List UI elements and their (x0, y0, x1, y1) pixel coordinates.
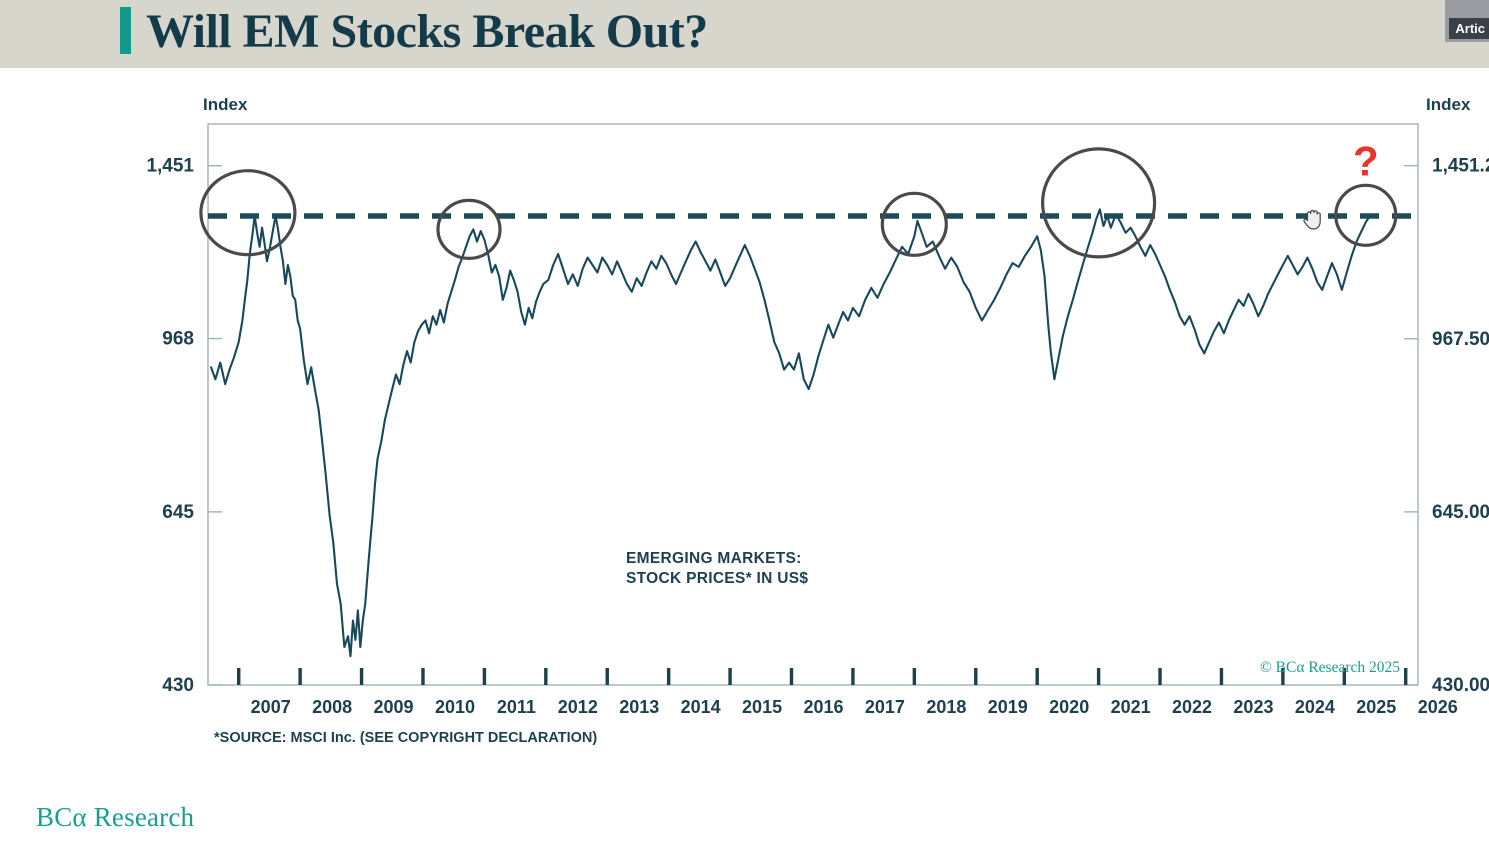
x-axis-tick-label: 2017 (865, 697, 905, 717)
right-axis-tick-label: 1,451.25 (1432, 156, 1489, 177)
left-axis-tick-label: 968 (162, 329, 194, 350)
x-axis-tick-label: 2011 (497, 697, 536, 717)
peak-circle-annotation (438, 200, 500, 258)
x-axis-tick-label: 2016 (803, 697, 843, 717)
question-mark-annotation: ? (1353, 137, 1379, 184)
left-axis-title: Index (203, 95, 248, 114)
left-axis-tick-label: 430 (162, 675, 194, 696)
peak-circle-annotation (201, 171, 295, 255)
series-label-line2: STOCK PRICES* IN US$ (626, 570, 808, 587)
x-axis-tick-label: 2015 (742, 697, 782, 717)
source-note: *SOURCE: MSCI Inc. (SEE COPYRIGHT DECLAR… (214, 730, 597, 746)
right-axis-tick-label: 967.50 (1432, 329, 1489, 350)
x-axis-tick-label: 2013 (619, 697, 659, 717)
corner-panel[interactable]: Artic (1445, 0, 1489, 42)
right-axis-tick-label: 645.00 (1432, 502, 1489, 523)
peak-circle-annotation (882, 193, 946, 255)
title-accent-bar (120, 7, 131, 54)
x-axis-tick-label: 2020 (1049, 697, 1089, 717)
x-axis-tick-label: 2026 (1418, 697, 1458, 717)
x-axis-tick-label: 2023 (1233, 697, 1273, 717)
x-axis-tick-label: 2014 (681, 697, 721, 717)
header-band: Will EM Stocks Break Out? Artic (0, 0, 1489, 68)
corner-chip-label[interactable]: Artic (1449, 18, 1489, 39)
page-title: Will EM Stocks Break Out? (146, 0, 708, 68)
right-axis-title: Index (1426, 95, 1471, 114)
right-axis-tick-label: 430.00 (1432, 675, 1489, 696)
x-axis-tick-label: 2024 (1295, 697, 1335, 717)
x-axis-tick-label: 2025 (1356, 697, 1396, 717)
x-axis-tick-label: 2012 (558, 697, 598, 717)
x-axis-tick-label: 2008 (312, 697, 352, 717)
em-stock-price-line (211, 209, 1371, 656)
left-axis-tick-label: 1,451 (146, 156, 194, 177)
x-axis-tick-label: 2021 (1111, 697, 1151, 717)
chart-region[interactable]: 1,451968645430Index1,451.25967.50645.004… (0, 68, 1489, 780)
peak-circle-annotation (1043, 149, 1155, 257)
x-axis-tick-label: 2009 (374, 697, 414, 717)
x-axis-tick-label: 2010 (435, 697, 475, 717)
series-label-line1: EMERGING MARKETS: (626, 550, 802, 567)
bca-research-logo: BCα Research (36, 802, 194, 833)
x-axis-tick-label: 2022 (1172, 697, 1212, 717)
x-axis-tick-label: 2019 (988, 697, 1028, 717)
em-stocks-line-chart[interactable]: 1,451968645430Index1,451.25967.50645.004… (0, 68, 1489, 780)
chart-copyright: © BCα Research 2025 (1260, 659, 1400, 676)
left-axis-tick-label: 645 (162, 502, 194, 523)
x-axis-tick-label: 2018 (926, 697, 966, 717)
x-axis-tick-label: 2007 (251, 697, 291, 717)
